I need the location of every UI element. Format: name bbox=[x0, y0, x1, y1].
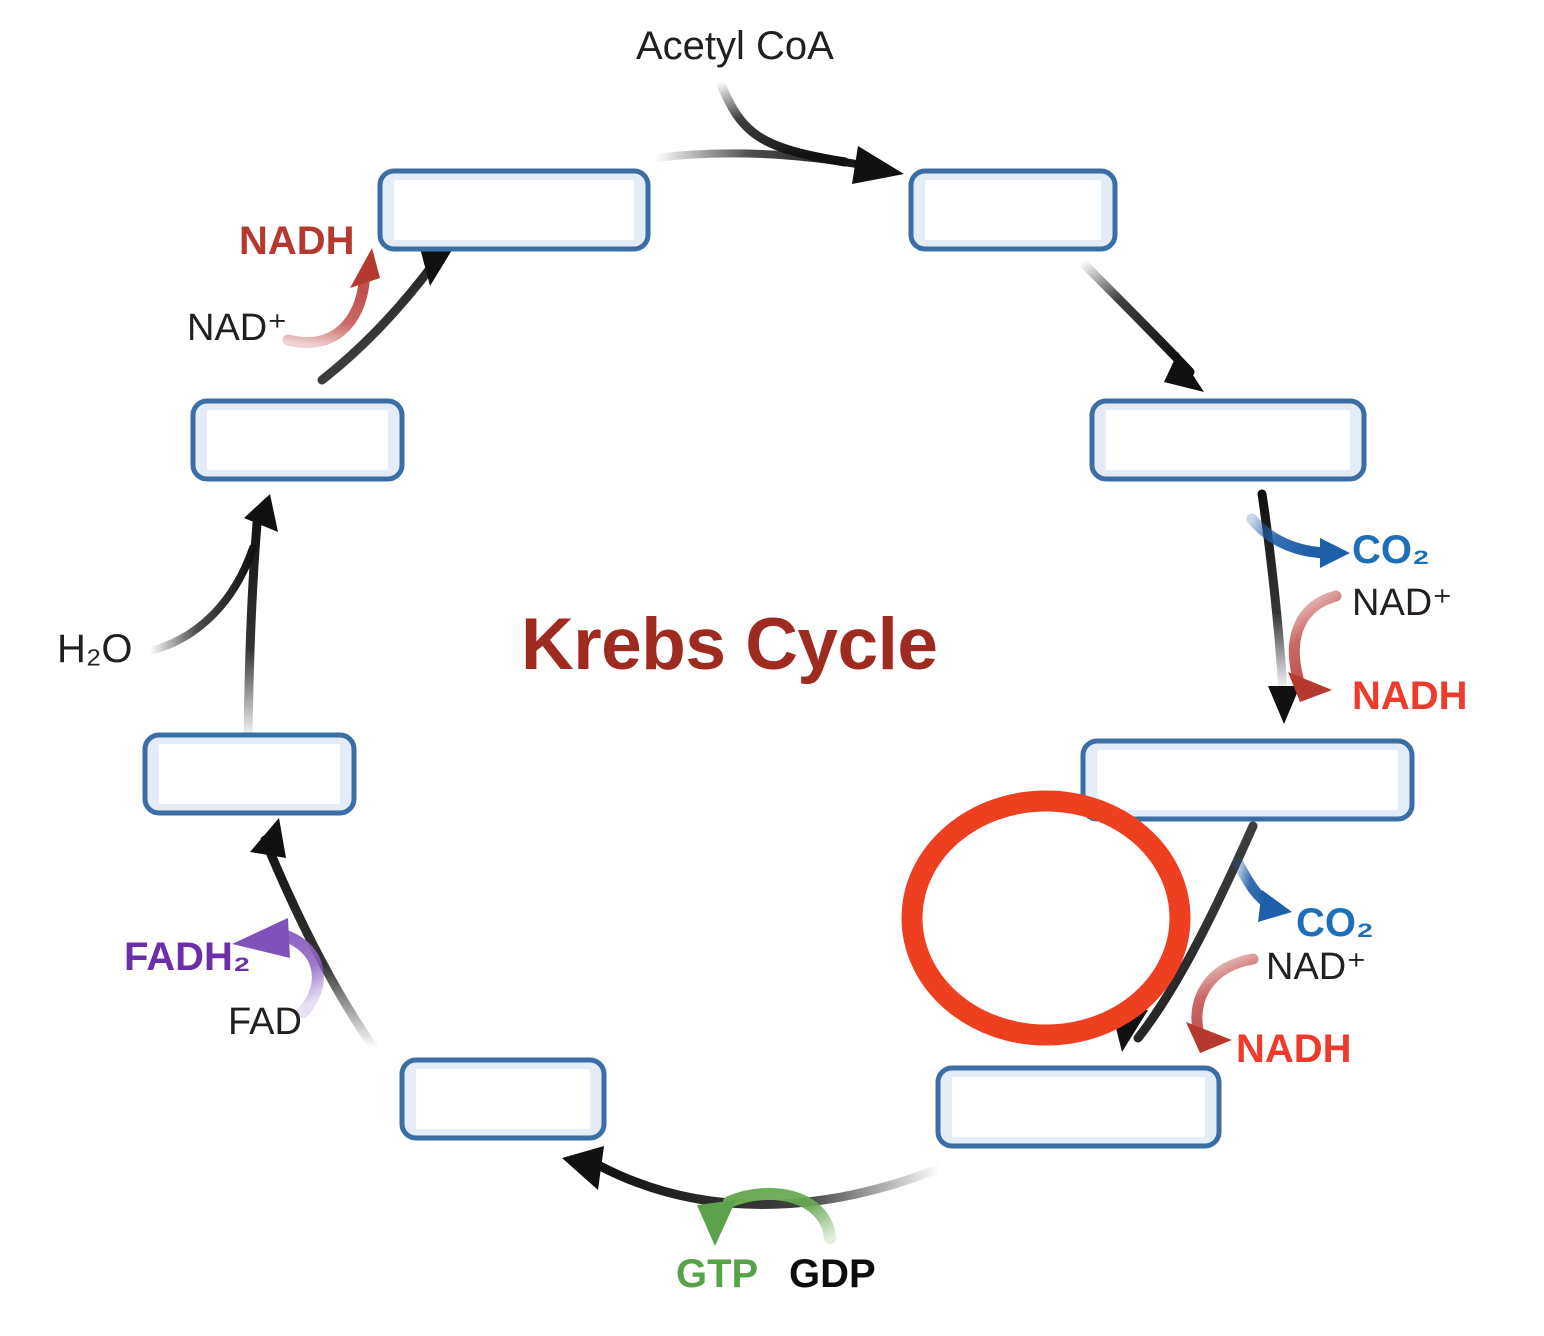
top-right-to-right-upper-arrow bbox=[1082, 262, 1204, 392]
blank-box-right-middle[interactable] bbox=[1083, 741, 1412, 819]
box-answer-field[interactable] bbox=[207, 410, 388, 470]
blank-box-top-left[interactable] bbox=[380, 171, 648, 249]
nadh-label-lower-right: NADH bbox=[1236, 1029, 1352, 1069]
gdp-label: GDP bbox=[789, 1254, 876, 1294]
box-answer-field[interactable] bbox=[416, 1069, 590, 1129]
left-upper-to-top-left-arrow bbox=[322, 248, 452, 380]
co2-label-lower-right: CO₂ bbox=[1296, 903, 1374, 943]
red-circle-annotation[interactable] bbox=[912, 801, 1180, 1035]
blank-box-bottom-left[interactable] bbox=[402, 1060, 604, 1138]
fadh2-label: FADH₂ bbox=[124, 937, 251, 977]
blank-box-right-upper[interactable] bbox=[1092, 401, 1364, 479]
box-answer-field[interactable] bbox=[1106, 410, 1350, 470]
box-answer-field[interactable] bbox=[1097, 750, 1398, 810]
box-answer-field[interactable] bbox=[394, 180, 634, 240]
nadh-label-top-left: NADH bbox=[239, 221, 355, 261]
nad-to-nadh-curve-upper-right bbox=[1288, 596, 1336, 702]
nad-plus-label-lower-right: NAD⁺ bbox=[1266, 948, 1366, 986]
co2-release-curve-lower-right bbox=[1238, 863, 1292, 922]
fad-label: FAD bbox=[228, 1003, 302, 1041]
nadh-label-upper-right: NADH bbox=[1352, 676, 1468, 716]
blank-box-left-lower[interactable] bbox=[145, 735, 354, 813]
box-answer-field[interactable] bbox=[952, 1077, 1205, 1137]
water-label: H₂O bbox=[57, 629, 133, 669]
box-answer-field[interactable] bbox=[159, 744, 340, 804]
blank-box-left-upper[interactable] bbox=[193, 401, 402, 479]
acetyl-coa-label: Acetyl CoA bbox=[636, 26, 834, 66]
gtp-label: GTP bbox=[676, 1254, 758, 1294]
diagram-title: Krebs Cycle bbox=[521, 608, 938, 681]
acetyl-coa-feed-arrow bbox=[655, 82, 904, 184]
blank-box-bottom-right[interactable] bbox=[938, 1068, 1219, 1146]
blank-box-top-right[interactable] bbox=[911, 171, 1115, 249]
left-lower-to-left-upper-arrow bbox=[150, 494, 278, 740]
box-answer-field[interactable] bbox=[925, 180, 1101, 240]
nad-plus-label-top-left: NAD⁺ bbox=[187, 309, 287, 347]
krebs-cycle-diagram: Krebs Cycle Acetyl CoA NADH NAD⁺ H₂O CO₂… bbox=[0, 0, 1544, 1336]
nad-plus-label-upper-right: NAD⁺ bbox=[1352, 584, 1452, 622]
co2-label-upper-right: CO₂ bbox=[1352, 530, 1430, 570]
